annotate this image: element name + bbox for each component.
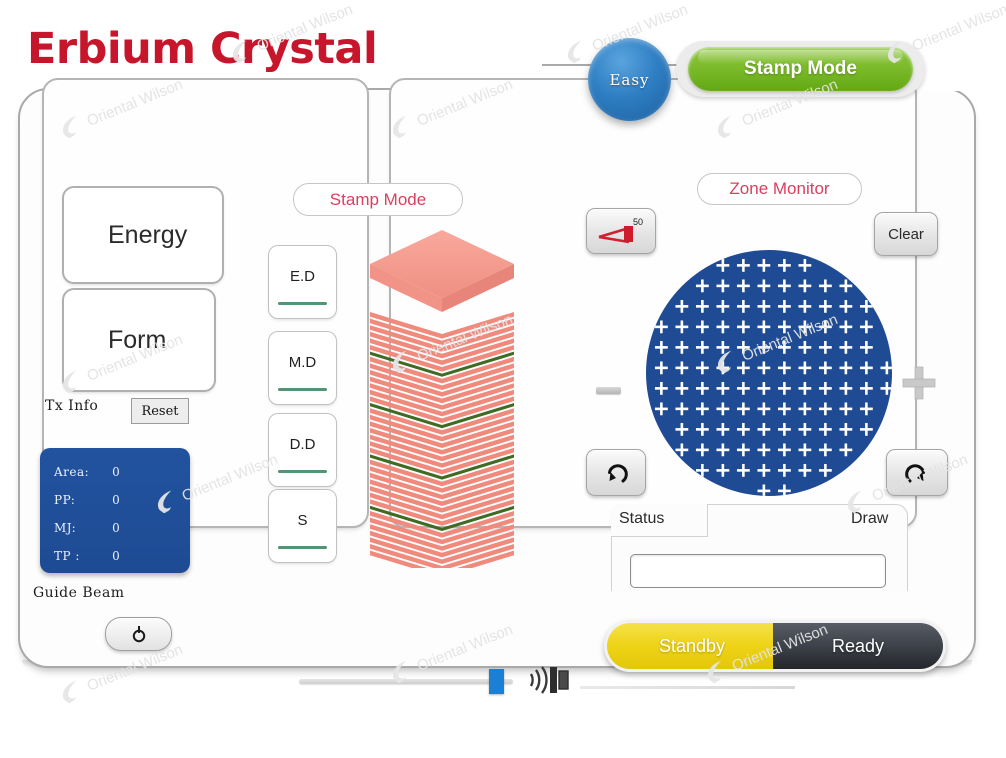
mode-button-indicator xyxy=(278,302,327,305)
guide-beam-button[interactable] xyxy=(105,617,172,651)
standby-button-label: Standby xyxy=(659,636,725,657)
angle-gauge-icon: 50 xyxy=(595,215,647,247)
guide-beam-label: Guide Beam xyxy=(33,585,125,601)
rotate-counter-clockwise-button[interactable] xyxy=(586,449,646,496)
plus-icon[interactable] xyxy=(902,366,936,400)
volume-slider-thumb[interactable] xyxy=(489,669,504,694)
mode-button-s[interactable]: S xyxy=(268,489,337,563)
angle-gauge-button[interactable]: 50 xyxy=(586,208,656,254)
mode-button-md[interactable]: M.D xyxy=(268,331,337,405)
layered-stack-graphic xyxy=(368,228,516,568)
zone-monitor-chip: Zone Monitor xyxy=(697,173,862,205)
ready-button-label: Ready xyxy=(832,636,884,657)
power-icon xyxy=(131,625,147,643)
stamp-mode-button[interactable]: Stamp Mode xyxy=(688,47,913,91)
tab-draw[interactable]: Draw xyxy=(851,510,888,528)
tab-status[interactable]: Status xyxy=(619,510,664,528)
readout-value: 0 xyxy=(96,521,136,535)
readout-value: 0 xyxy=(96,549,136,563)
watermark-logo-icon xyxy=(55,676,89,710)
mode-button-label: E.D xyxy=(269,268,336,285)
zone-monitor-chip-label: Zone Monitor xyxy=(729,179,829,199)
mode-button-label: S xyxy=(269,512,336,529)
mode-button-indicator xyxy=(278,388,327,391)
readout-key: PP: xyxy=(40,493,96,507)
readout-key: TP : xyxy=(40,549,96,563)
energy-card[interactable]: Energy xyxy=(62,186,224,284)
standby-button[interactable]: Standby xyxy=(607,623,777,669)
clear-button-label: Clear xyxy=(888,226,924,243)
energy-card-label: Energy xyxy=(108,221,187,250)
tx-info-readout: Area: 0 PP: 0 MJ: 0 TP : 0 xyxy=(40,448,190,573)
readout-row: PP: 0 xyxy=(40,486,190,514)
readout-row: MJ: 0 xyxy=(40,514,190,542)
reset-button-label: Reset xyxy=(141,404,178,419)
rotate-clockwise-icon xyxy=(904,460,930,486)
readout-key: Area: xyxy=(40,465,96,479)
speaker-icon[interactable] xyxy=(528,662,570,698)
clear-button[interactable]: Clear xyxy=(874,212,938,256)
zone-monitor-grid[interactable] xyxy=(646,250,892,496)
easy-button[interactable]: Easy xyxy=(588,38,671,121)
mode-button-label: D.D xyxy=(269,436,336,453)
readout-row: TP : 0 xyxy=(40,542,190,570)
zone-plus-grid xyxy=(646,250,892,496)
mode-button-ed[interactable]: E.D xyxy=(268,245,337,319)
volume-slider-track[interactable] xyxy=(299,679,513,684)
status-input[interactable] xyxy=(630,554,886,588)
mode-button-indicator xyxy=(278,546,327,549)
bottom-divider xyxy=(580,686,795,689)
readout-value: 0 xyxy=(96,493,136,507)
ready-button[interactable]: Ready xyxy=(773,623,943,669)
stamp-mode-chip-label: Stamp Mode xyxy=(330,190,426,210)
mode-button-dd[interactable]: D.D xyxy=(268,413,337,487)
page-title: Erbium Crystal xyxy=(27,24,377,74)
readout-row: Area: 0 xyxy=(40,458,190,486)
rotate-clockwise-button[interactable] xyxy=(886,449,948,496)
stamp-mode-button-label: Stamp Mode xyxy=(744,58,857,80)
mode-button-label: M.D xyxy=(269,354,336,371)
gauge-value-text: 50 xyxy=(633,217,643,227)
tx-info-label: Tx Info xyxy=(45,398,98,414)
mode-pill-housing: Stamp Mode xyxy=(676,41,925,97)
readout-value: 0 xyxy=(96,465,136,479)
form-card-label: Form xyxy=(108,326,166,355)
standby-ready-toggle: Standby Ready xyxy=(604,620,946,672)
mode-button-indicator xyxy=(278,470,327,473)
form-card[interactable]: Form xyxy=(62,288,216,392)
reset-button[interactable]: Reset xyxy=(131,398,189,424)
readout-key: MJ: xyxy=(40,521,96,535)
minus-icon[interactable] xyxy=(596,387,621,394)
rotate-counter-clockwise-icon xyxy=(603,460,629,486)
stamp-mode-chip: Stamp Mode xyxy=(293,183,463,216)
easy-button-label: Easy xyxy=(609,71,649,89)
